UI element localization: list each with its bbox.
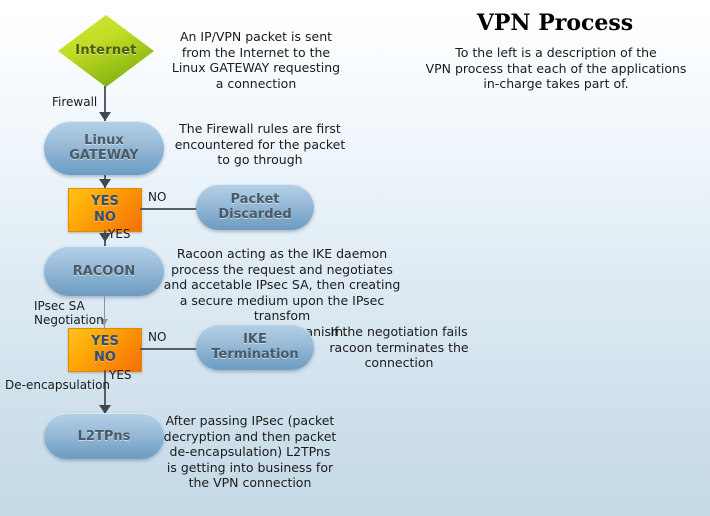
panel-description: To the left is a description of the VPN … (412, 45, 700, 92)
description-gateway: The Firewall rules are first encountered… (165, 121, 355, 168)
node-linux-gateway[interactable]: Linux GATEWAY (44, 121, 164, 175)
arrow-gateway-to-decision1-icon (99, 179, 111, 188)
node-racoon[interactable]: RACOON (44, 246, 164, 296)
edge-label-firewall: Firewall (52, 95, 97, 109)
edge-label-ipsec-sa-negotiation: IPsec SA Negotiation (34, 299, 104, 327)
edge-label-de-encapsulation: De-encapsulation (5, 378, 110, 392)
edge-decision1-no (140, 208, 202, 210)
node-ike-termination[interactable]: IKE Termination (196, 324, 314, 370)
vpn-process-diagram: Internet Firewall An IP/VPN packet is se… (0, 0, 710, 516)
panel-title: VPN Process (448, 10, 662, 36)
node-decision-ipsec[interactable]: YES NO (68, 328, 142, 372)
node-ike-termination-label: IKE Termination (211, 332, 298, 362)
edge-label-yes-1: YES (108, 227, 131, 241)
node-racoon-label: RACOON (73, 264, 136, 279)
edge-label-no-2: NO (148, 330, 166, 344)
decision-ipsec-no-label: NO (94, 350, 116, 366)
node-l2tpns[interactable]: L2TPns (44, 413, 164, 459)
decision-firewall-no-label: NO (94, 210, 116, 226)
decision-ipsec-yes-label: YES (91, 334, 119, 350)
node-decision-firewall[interactable]: YES NO (68, 188, 142, 232)
edge-decision2-no (140, 348, 202, 350)
node-linux-gateway-label: Linux GATEWAY (69, 133, 138, 163)
description-internet: An IP/VPN packet is sent from the Intern… (158, 29, 354, 91)
node-packet-discarded[interactable]: Packet Discarded (196, 184, 314, 230)
node-internet-label: Internet (57, 43, 155, 58)
node-l2tpns-label: L2TPns (78, 429, 131, 444)
decision-firewall-yes-label: YES (91, 194, 119, 210)
node-internet[interactable]: Internet (57, 14, 155, 88)
description-ike-termination: If the negotiation fails racoon terminat… (318, 324, 480, 371)
node-packet-discarded-label: Packet Discarded (218, 192, 291, 222)
edge-label-yes-2: YES (109, 368, 132, 382)
edge-label-no-1: NO (148, 190, 166, 204)
description-l2tpns: After passing IPsec (packet decryption a… (152, 413, 348, 491)
arrow-internet-to-gateway-icon (99, 112, 111, 121)
